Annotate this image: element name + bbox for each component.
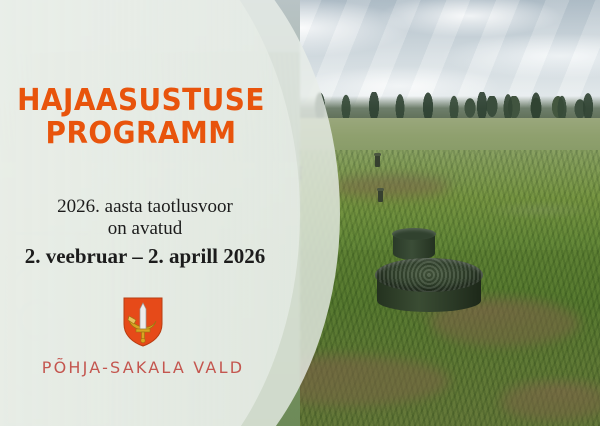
septic-tank-large	[375, 258, 483, 316]
tank-lid	[392, 228, 436, 240]
field-vent-post	[375, 155, 380, 167]
septic-tank-small	[392, 228, 436, 262]
application-date-range: 2. veebruar – 2. aprill 2026	[0, 244, 290, 269]
coat-of-arms-shield-icon	[122, 296, 164, 348]
headline-line-2: PROGRAMM	[10, 117, 272, 150]
poster-content: HAJAASUSTUSE PROGRAMM 2026. aasta taotlu…	[0, 0, 300, 426]
municipality-logo: PÕHJA-SAKALA VALD	[0, 296, 286, 377]
headline-line-1: HAJAASUSTUSE	[10, 84, 272, 117]
poster-body: 2026. aasta taotlusvoor on avatud 2. vee…	[0, 196, 290, 269]
tank-lid-ribbed	[375, 258, 483, 292]
municipality-name: PÕHJA-SAKALA VALD	[0, 358, 286, 377]
field-vent-post	[378, 190, 383, 202]
poster-headline: HAJAASUSTUSE PROGRAMM	[10, 84, 272, 150]
poster-canvas: HAJAASUSTUSE PROGRAMM 2026. aasta taotlu…	[0, 0, 600, 426]
soil-patch	[500, 384, 600, 420]
body-line-2: on avatud	[108, 218, 182, 239]
soil-patch	[330, 176, 450, 198]
body-line-1: 2026. aasta taotlusvoor	[57, 196, 233, 217]
